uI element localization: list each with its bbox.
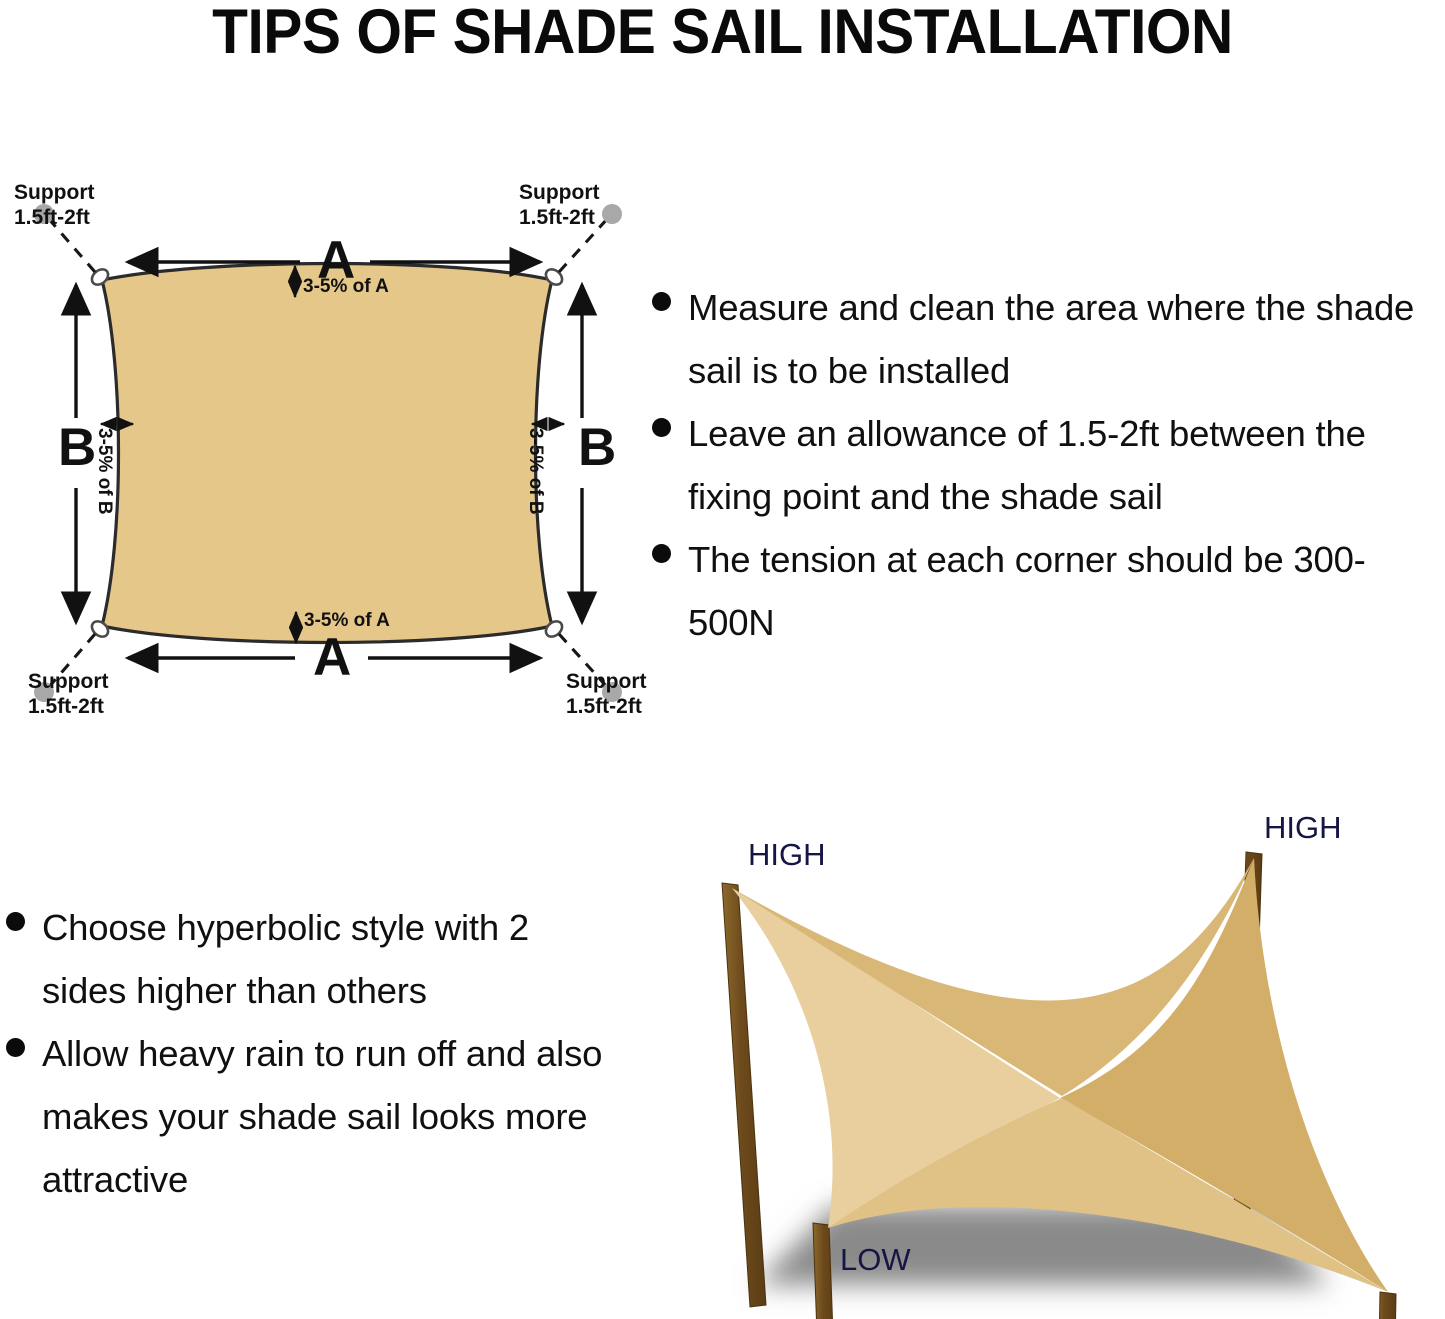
list-item: Measure and clean the area where the sha…: [652, 276, 1445, 402]
post-label-high-left: HIGH: [748, 837, 826, 872]
dimension-label-a-bottom: A: [313, 631, 351, 684]
support-dot-top-right: [602, 204, 622, 224]
bullet-dot-icon: [652, 418, 671, 437]
post-label-low-left: LOW: [840, 1242, 911, 1277]
tip-text: Choose hyperbolic style with 2 sides hig…: [42, 896, 617, 1022]
tips-list-top: Measure and clean the area where the sha…: [652, 276, 1445, 654]
curvature-label-top: 3-5% of A: [303, 276, 389, 298]
list-item: Allow heavy rain to run off and also mak…: [6, 1022, 626, 1211]
list-item: Choose hyperbolic style with 2 sides hig…: [6, 896, 626, 1022]
support-label-top-left: Support 1.5ft-2ft: [14, 180, 94, 230]
dimension-label-b-right: B: [578, 421, 616, 474]
infographic-canvas: TIPS OF SHADE SAIL INSTALLATION: [0, 0, 1445, 1319]
post-front-right: [1375, 1292, 1396, 1319]
curvature-label-left: 3-5% of B: [93, 428, 115, 515]
list-item: Leave an allowance of 1.5-2ft between th…: [652, 402, 1445, 528]
bullet-dot-icon: [6, 912, 25, 931]
tips-list-bottom: Choose hyperbolic style with 2 sides hig…: [6, 896, 626, 1211]
support-label-top-right: Support 1.5ft-2ft: [519, 180, 599, 230]
tip-text: The tension at each corner should be 300…: [688, 528, 1445, 654]
tip-text: Measure and clean the area where the sha…: [688, 276, 1445, 402]
dimension-label-b-left: B: [58, 421, 96, 474]
bullet-dot-icon: [652, 544, 671, 563]
curvature-label-right: 3-5% of B: [524, 428, 546, 515]
bullet-dot-icon: [6, 1038, 25, 1057]
tip-text: Allow heavy rain to run off and also mak…: [42, 1022, 617, 1211]
bullet-dot-icon: [652, 292, 671, 311]
tip-text: Leave an allowance of 1.5-2ft between th…: [688, 402, 1445, 528]
post-label-high-right: HIGH: [1264, 810, 1342, 845]
shade-sail-shape: [102, 264, 552, 643]
list-item: The tension at each corner should be 300…: [652, 528, 1445, 654]
curvature-label-bottom: 3-5% of A: [304, 610, 390, 632]
support-label-bottom-right: Support 1.5ft-2ft: [566, 669, 646, 719]
support-label-bottom-left: Support 1.5ft-2ft: [28, 669, 108, 719]
post-rear-left: [722, 883, 766, 1307]
hyperbolic-sail-diagram: HIGH HIGH LOW LOW: [650, 780, 1445, 1319]
